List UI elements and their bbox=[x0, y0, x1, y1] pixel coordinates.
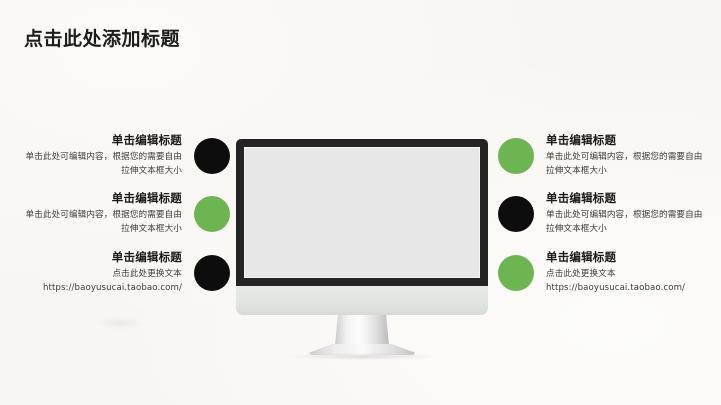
feature-body: 点击此处更换文本 bbox=[22, 268, 182, 282]
bullet-dot-icon bbox=[498, 255, 534, 291]
feature-body: 单击此处可编辑内容，根据您的需要自由拉伸文本框大小 bbox=[22, 151, 182, 179]
bullet-dot-icon bbox=[498, 196, 534, 232]
feature-item-left-1[interactable]: 单击编辑标题 单击此处可编辑内容，根据您的需要自由拉伸文本框大小 bbox=[22, 132, 230, 179]
bullet-dot-icon bbox=[194, 138, 230, 174]
feature-heading: 单击编辑标题 bbox=[22, 249, 182, 266]
feature-item-right-1[interactable]: 单击编辑标题 单击此处可编辑内容，根据您的需要自由拉伸文本框大小 bbox=[498, 132, 708, 179]
feature-body: 单击此处可编辑内容，根据您的需要自由拉伸文本框大小 bbox=[546, 209, 706, 237]
feature-heading: 单击编辑标题 bbox=[546, 190, 706, 207]
feature-body: 单击此处可编辑内容，根据您的需要自由拉伸文本框大小 bbox=[22, 209, 182, 237]
feature-text-block: 单击编辑标题 单击此处可编辑内容，根据您的需要自由拉伸文本框大小 bbox=[22, 190, 182, 237]
feature-item-right-3[interactable]: 单击编辑标题 点击此处更换文本 https://baoyusucai.taoba… bbox=[498, 249, 708, 296]
feature-body: 单击此处可编辑内容，根据您的需要自由拉伸文本框大小 bbox=[546, 151, 706, 179]
feature-heading: 单击编辑标题 bbox=[22, 132, 182, 149]
feature-heading: 单击编辑标题 bbox=[546, 132, 706, 149]
feature-heading: 单击编辑标题 bbox=[22, 190, 182, 207]
feature-item-right-2[interactable]: 单击编辑标题 单击此处可编辑内容，根据您的需要自由拉伸文本框大小 bbox=[498, 190, 708, 237]
feature-heading: 单击编辑标题 bbox=[546, 249, 706, 266]
monitor-screen-placeholder[interactable] bbox=[244, 147, 480, 278]
feature-text-block: 单击编辑标题 点击此处更换文本 https://baoyusucai.taoba… bbox=[22, 249, 182, 296]
feature-text-block: 单击编辑标题 单击此处可编辑内容，根据您的需要自由拉伸文本框大小 bbox=[546, 132, 706, 179]
feature-item-left-2[interactable]: 单击编辑标题 单击此处可编辑内容，根据您的需要自由拉伸文本框大小 bbox=[22, 190, 230, 237]
bullet-dot-icon bbox=[194, 255, 230, 291]
monitor-bezel bbox=[236, 139, 488, 286]
feature-body: 点击此处更换文本 bbox=[546, 268, 706, 282]
feature-item-left-3[interactable]: 单击编辑标题 点击此处更换文本 https://baoyusucai.taoba… bbox=[22, 249, 230, 296]
monitor-chin bbox=[236, 286, 488, 315]
page-title: 点击此处添加标题 bbox=[24, 28, 180, 51]
feature-text-block: 单击编辑标题 单击此处可编辑内容，根据您的需要自由拉伸文本框大小 bbox=[22, 132, 182, 179]
feature-text-block: 单击编辑标题 单击此处可编辑内容，根据您的需要自由拉伸文本框大小 bbox=[546, 190, 706, 237]
monitor-shadow bbox=[287, 353, 437, 360]
bullet-dot-icon bbox=[498, 138, 534, 174]
feature-link[interactable]: https://baoyusucai.taobao.com/ bbox=[546, 282, 706, 296]
feature-text-block: 单击编辑标题 点击此处更换文本 https://baoyusucai.taoba… bbox=[546, 249, 706, 296]
feature-link[interactable]: https://baoyusucai.taobao.com/ bbox=[22, 282, 182, 296]
presentation-slide: 点击此处添加标题 单击编辑标题 单击此处可编辑内容，根据您的需要自由拉伸文本框大… bbox=[0, 0, 721, 405]
monitor-illustration bbox=[236, 139, 488, 351]
bullet-dot-icon bbox=[194, 196, 230, 232]
background-smudge bbox=[96, 316, 144, 330]
